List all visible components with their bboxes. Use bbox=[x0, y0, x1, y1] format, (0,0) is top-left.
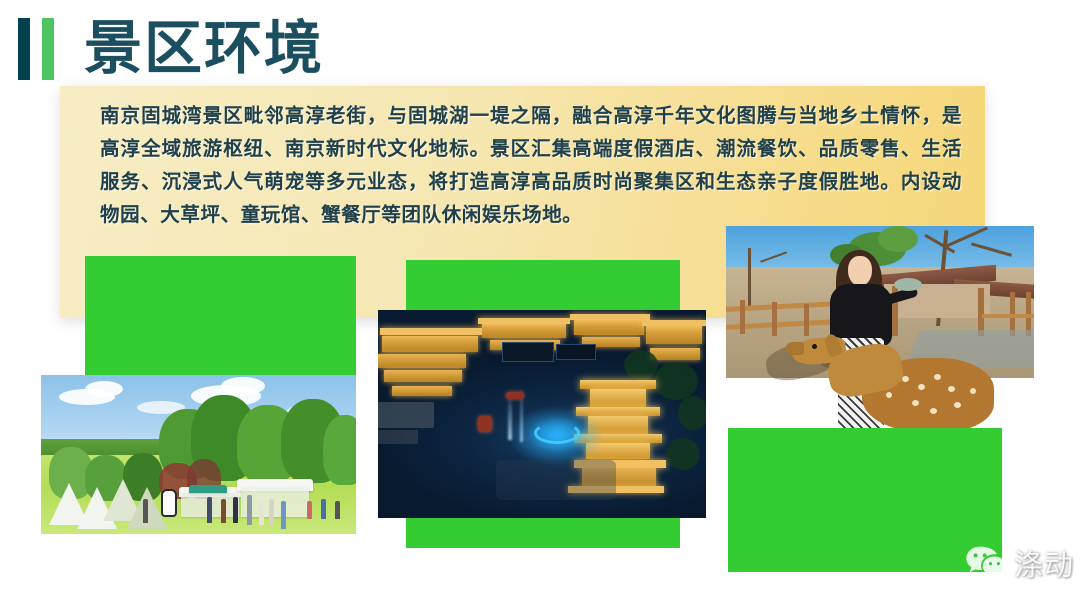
description-text: 南京固城湾景区毗邻高淳老街，与固城湖一堤之隔，融合高淳千年文化图腾与当地乡土情怀… bbox=[100, 100, 962, 232]
green-block-left bbox=[85, 256, 356, 380]
accent-bar-dark-icon bbox=[18, 18, 30, 80]
green-block-right bbox=[728, 428, 1002, 572]
photo-deer bbox=[726, 226, 1034, 428]
wechat-icon bbox=[965, 545, 1007, 581]
slide-canvas: 景区环境 南京固城湾景区毗邻高淳老街，与固城湖一堤之隔，融合高淳千年文化图腾与当… bbox=[0, 0, 1080, 604]
photo-night bbox=[378, 310, 706, 518]
watermark-label: 涤动 bbox=[1014, 542, 1074, 584]
watermark: 涤动 bbox=[965, 542, 1074, 584]
page-header: 景区环境 bbox=[18, 18, 324, 80]
accent-bar-light-icon bbox=[42, 18, 54, 80]
page-title: 景区环境 bbox=[84, 18, 324, 80]
photo-lawn bbox=[41, 375, 356, 583]
